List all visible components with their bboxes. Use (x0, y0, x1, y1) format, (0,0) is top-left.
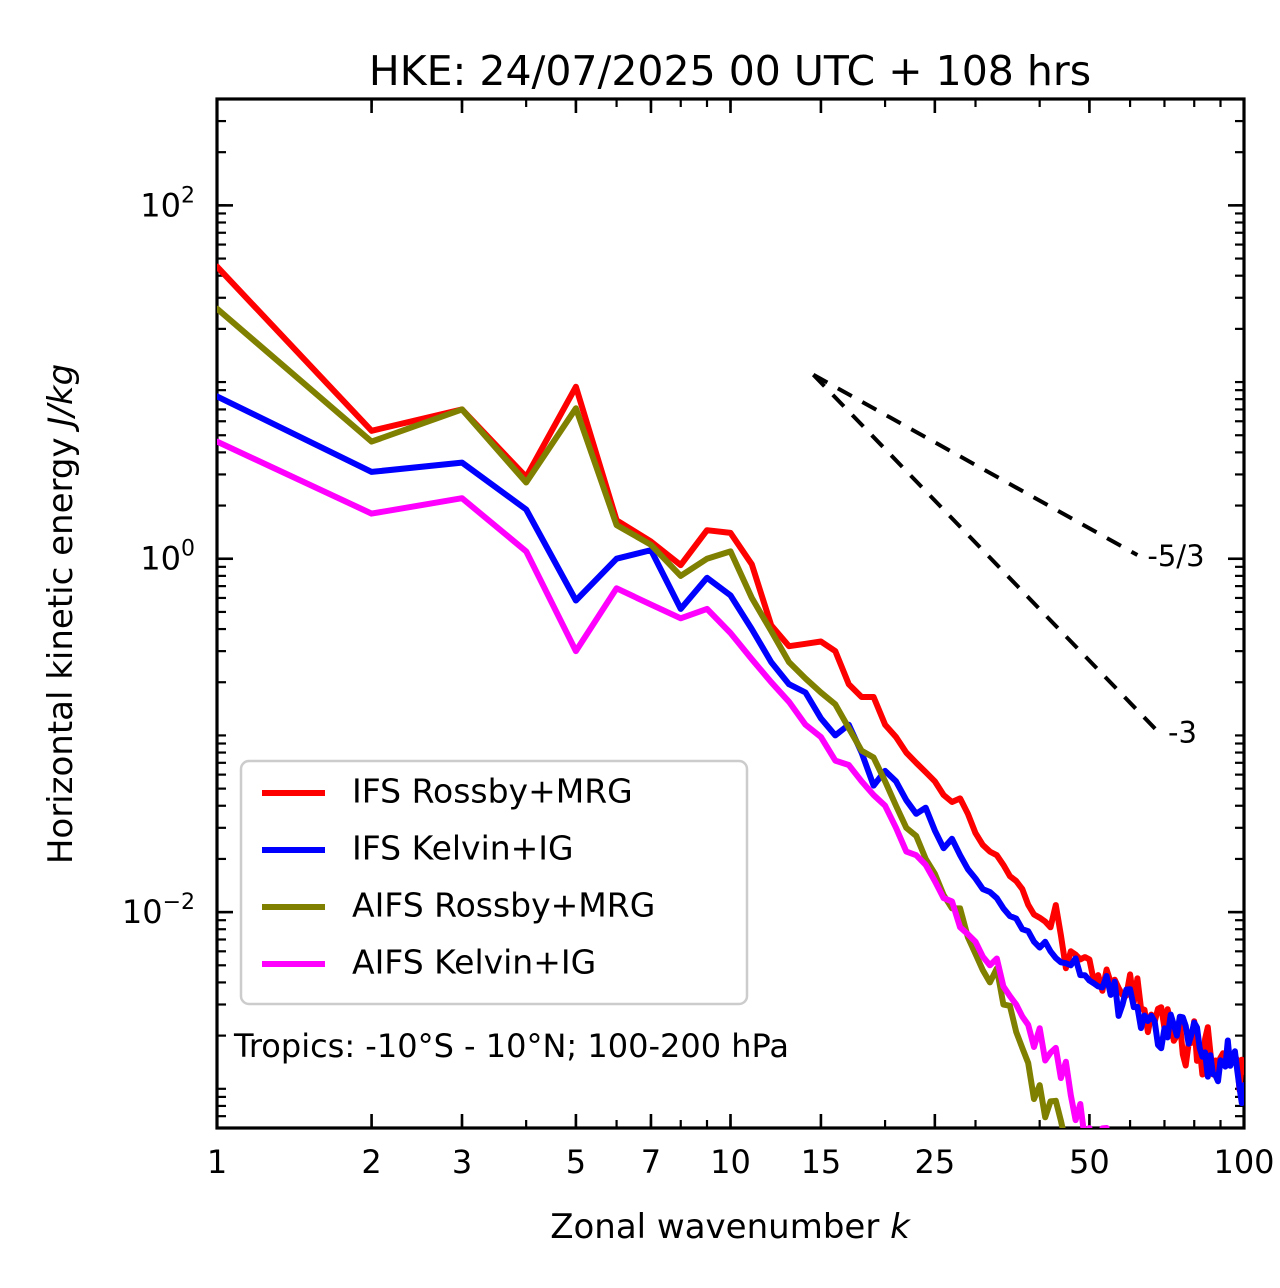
x-axis-label-plain: Zonal wavenumber (550, 1207, 890, 1247)
reference-line-label: -3 (1168, 716, 1197, 750)
x-tick-label: 25 (914, 1143, 955, 1181)
legend: IFS Rossby+MRGIFS Kelvin+IGAIFS Rossby+M… (241, 761, 747, 1004)
x-tick-label: 3 (452, 1143, 472, 1181)
x-tick-label: 1 (207, 1143, 227, 1181)
x-tick-label: 50 (1069, 1143, 1110, 1181)
x-axis-label: Zonal wavenumber k (550, 1207, 911, 1247)
y-tick-exponent: 0 (181, 537, 195, 562)
x-axis-label-italic: k (890, 1207, 911, 1247)
x-tick-label: 100 (1213, 1143, 1274, 1181)
legend-label-2: AIFS Rossby+MRG (352, 886, 655, 925)
region-annotation: Tropics: -10°S - 10°N; 100-200 hPa (233, 1027, 789, 1065)
y-tick-mantissa: 10 (140, 540, 181, 578)
chart-title: HKE: 24/07/2025 00 UTC + 108 hrs (369, 47, 1091, 95)
y-tick-exponent: 2 (181, 183, 195, 208)
y-axis-label: Horizontal kinetic energy J/kg (41, 364, 81, 864)
y-tick-mantissa: 10 (140, 186, 181, 224)
legend-label-3: AIFS Kelvin+IG (352, 943, 596, 982)
x-tick-label: 5 (566, 1143, 586, 1181)
x-tick-label: 2 (361, 1143, 381, 1181)
figure-container: HKE: 24/07/2025 00 UTC + 108 hrs 1235710… (0, 0, 1280, 1288)
y-axis-label-plain: Horizontal kinetic energy (41, 427, 81, 865)
reference-line-label: -5/3 (1147, 539, 1204, 573)
legend-label-0: IFS Rossby+MRG (352, 772, 633, 811)
legend-label-1: IFS Kelvin+IG (352, 829, 574, 868)
x-tick-label: 7 (641, 1143, 661, 1181)
y-tick-exponent: −2 (163, 890, 195, 915)
y-tick-mantissa: 10 (122, 893, 163, 931)
x-tick-label: 15 (801, 1143, 842, 1181)
kinetic-energy-spectrum-chart: HKE: 24/07/2025 00 UTC + 108 hrs 1235710… (0, 0, 1280, 1288)
x-tick-label: 10 (710, 1143, 751, 1181)
y-axis-label-italic: J/kg (41, 364, 81, 433)
